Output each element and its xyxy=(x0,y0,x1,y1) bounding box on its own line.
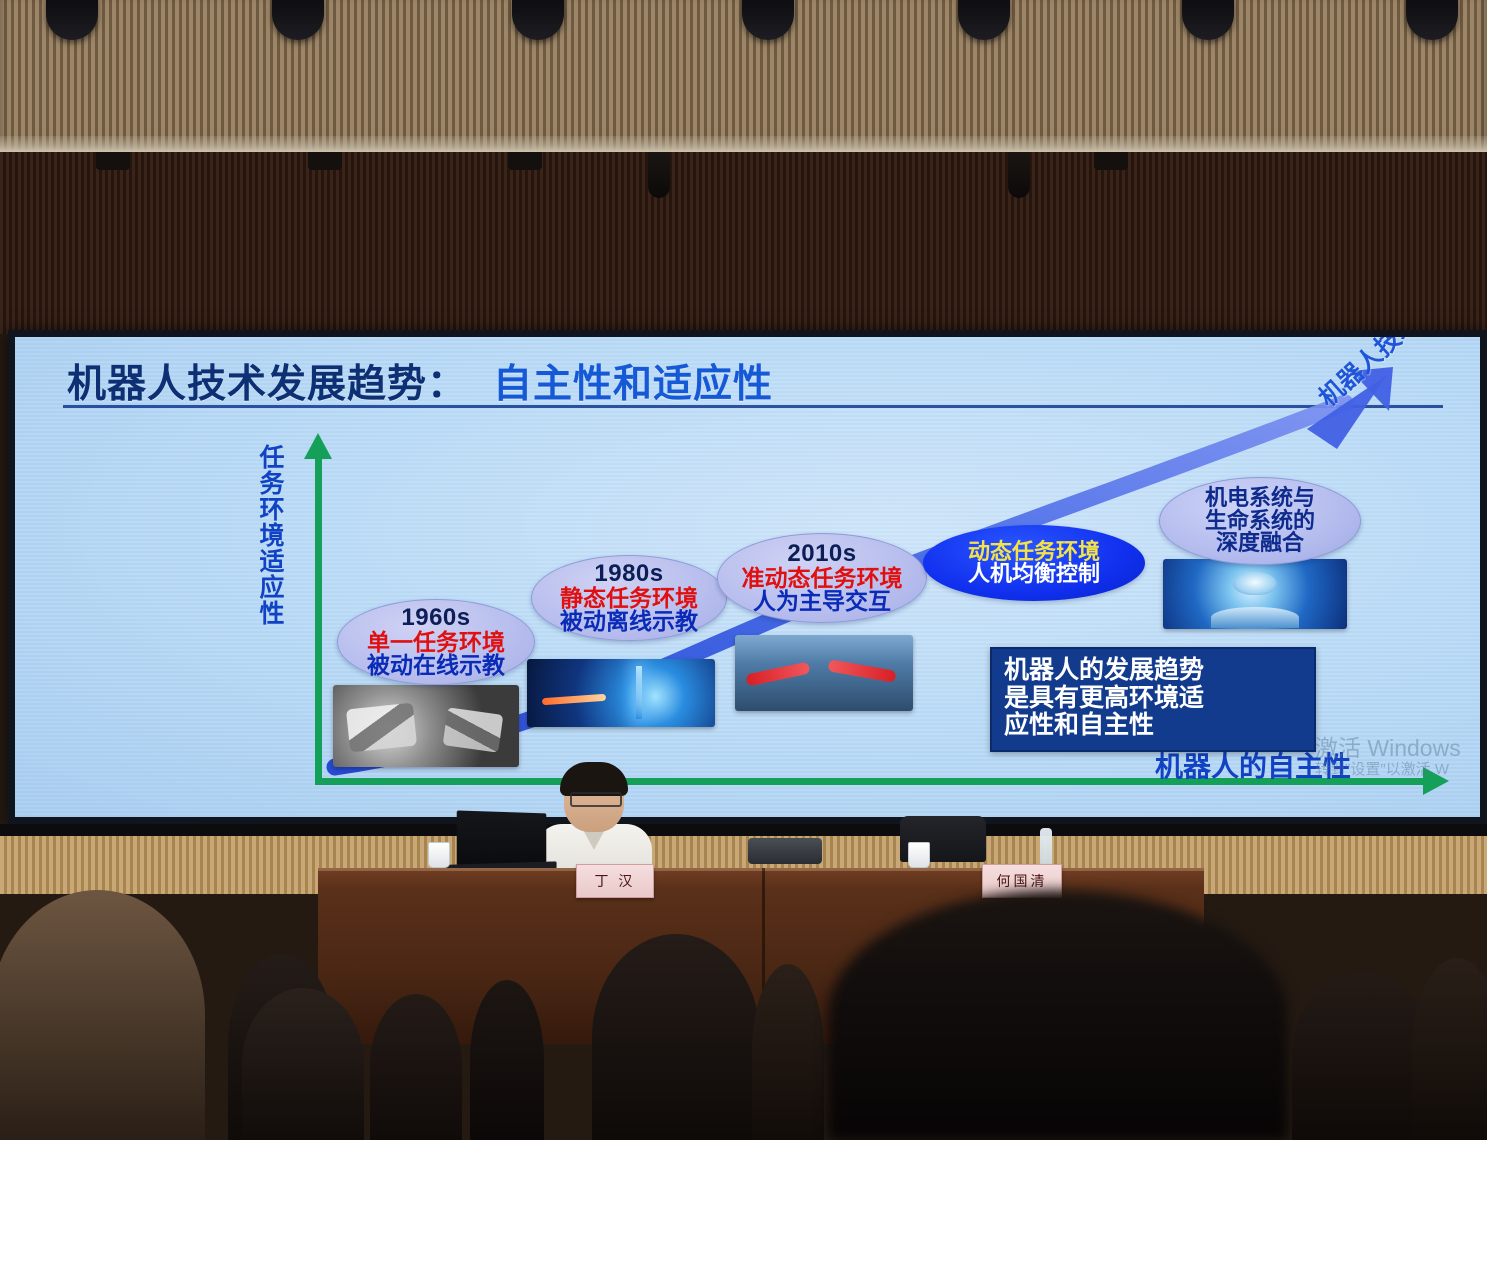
fusion-line-3: 深度融合 xyxy=(1216,532,1304,554)
callout-line-2: 是具有更高环境适 xyxy=(1004,685,1304,713)
presenter-hair xyxy=(560,762,628,796)
slide-surface: 机器人技术发展趋势：自主性和适应性 xyxy=(15,337,1480,817)
title-underline xyxy=(63,405,1443,408)
audience-head xyxy=(752,964,824,1140)
nameplate-left: 丁 汉 xyxy=(576,864,654,898)
audience-head xyxy=(828,890,1288,1140)
camera-info-bar: vivo X200 Pro ZEISS 88mm f/2.67 1/100s I… xyxy=(0,1140,1487,1280)
audience-head xyxy=(0,890,205,1140)
screen-bottom-band xyxy=(0,824,1487,836)
fusion-line-2: 生命系统的 xyxy=(1205,510,1315,532)
stage-blue-text: 人为主导交互 xyxy=(753,590,891,613)
stage-bubble-dynamic: 动态任务环境 人机均衡控制 xyxy=(923,525,1145,601)
desk-device xyxy=(748,838,822,864)
stage-blue-text: 人机均衡控制 xyxy=(968,563,1100,585)
wall-spot-1 xyxy=(96,152,130,170)
nameplate-right-text: 何国清 xyxy=(997,871,1048,891)
stage-red-text: 静态任务环境 xyxy=(560,587,698,610)
stage-year: 2010s xyxy=(787,542,856,566)
teacup-left xyxy=(428,842,450,868)
audience-head xyxy=(1292,972,1432,1140)
upper-wall xyxy=(0,152,1487,334)
conclusion-callout: 机器人的发展趋势 是具有更高环境适 应性和自主性 xyxy=(990,647,1316,752)
wall-spot-5 xyxy=(1008,152,1030,198)
presenter-glasses xyxy=(570,792,622,807)
stage-bubble-1980s: 1980s 静态任务环境 被动离线示教 xyxy=(531,555,727,641)
thumbnail-1980s xyxy=(527,659,715,727)
stage-blue-text: 被动离线示教 xyxy=(560,610,698,633)
projection-screen: 机器人技术发展趋势：自主性和适应性 xyxy=(8,330,1487,824)
thumbnail-1960s xyxy=(333,685,519,767)
slide-title-accent: 自主性和适应性 xyxy=(493,363,773,406)
windows-activation-watermark: 激活 Windows 转到"设置"以激活 W xyxy=(1315,735,1480,779)
thumbnail-2010s xyxy=(735,635,913,711)
audience-head xyxy=(242,988,364,1140)
screenshot-root: 机器人技术发展趋势：自主性和适应性 xyxy=(0,0,1487,1280)
stage-red-text: 单一任务环境 xyxy=(367,631,505,654)
stage-bubble-2010s: 2010s 准动态任务环境 人为主导交互 xyxy=(717,533,927,623)
stage-red-text: 准动态任务环境 xyxy=(742,567,903,590)
stage-blue-text: 被动在线示教 xyxy=(367,654,505,677)
conference-photo: 机器人技术发展趋势：自主性和适应性 xyxy=(0,0,1487,1140)
watermark-line-2: 转到"设置"以激活 W xyxy=(1315,761,1480,778)
audience-head xyxy=(592,934,760,1140)
thumbnail-humanoid xyxy=(1163,559,1347,629)
audience-head xyxy=(470,980,544,1140)
stage-year: 1980s xyxy=(594,562,663,586)
nameplate-left-text: 丁 汉 xyxy=(595,871,636,891)
slide-title-main: 机器人技术发展趋势： xyxy=(67,363,467,406)
stage-red-text: 动态任务环境 xyxy=(968,541,1100,563)
y-axis-label: 任务环境适应性 xyxy=(253,445,291,627)
callout-line-1: 机器人的发展趋势 xyxy=(1004,657,1304,685)
watermark-line-1: 激活 Windows xyxy=(1315,735,1480,761)
stage-bubble-1960s: 1960s 单一任务环境 被动在线示教 xyxy=(337,599,535,685)
diagonal-axis-label: 机器人技术 xyxy=(1315,337,1425,412)
fusion-bubble: 机电系统与 生命系统的 深度融合 xyxy=(1159,477,1361,565)
wall-spot-3 xyxy=(508,152,542,170)
slide-title: 机器人技术发展趋势：自主性和适应性 xyxy=(67,353,773,409)
stage-year: 1960s xyxy=(401,606,470,630)
fusion-line-1: 机电系统与 xyxy=(1205,487,1315,509)
water-bottle xyxy=(1040,828,1052,866)
audience-head xyxy=(1412,958,1487,1140)
callout-line-3: 应性和自主性 xyxy=(1004,712,1304,740)
wall-spot-6 xyxy=(1094,152,1128,170)
wall-spot-2 xyxy=(308,152,342,170)
wall-spot-4 xyxy=(648,152,670,198)
audience-head xyxy=(370,994,462,1140)
laptop xyxy=(457,810,547,865)
teacup-right xyxy=(908,842,930,868)
y-axis-arrow xyxy=(315,455,322,785)
